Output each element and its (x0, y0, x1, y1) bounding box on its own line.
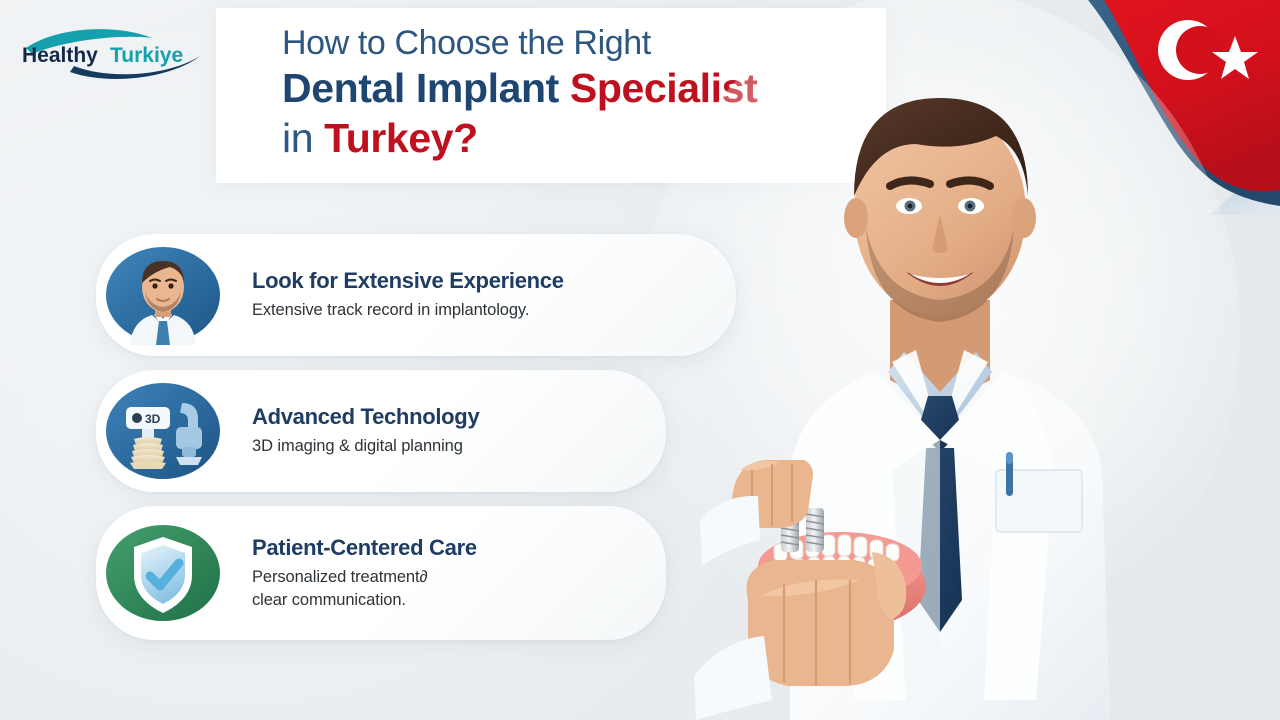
eyebrow-left (890, 180, 930, 186)
healthy-turkiye-logo[interactable]: Healthy Turkiye (18, 22, 208, 80)
eyebrow-right (950, 180, 990, 186)
flag-red-field (1104, 0, 1280, 191)
implant-screw-2 (806, 508, 824, 552)
svg-text:3D: 3D (145, 412, 161, 426)
model-teeth-row-upper (774, 535, 899, 561)
pupil-right (968, 204, 973, 209)
pen-icon (1006, 452, 1013, 496)
ear-left (844, 198, 868, 238)
headline-turkey: Turkey? (324, 115, 478, 161)
hand-upper (732, 460, 813, 528)
implant-screw (781, 508, 799, 552)
implant-threads-2 (806, 514, 824, 545)
tie-knot (918, 396, 962, 452)
feature-card-patient-care[interactable]: Patient-Centered Care Personalized treat… (96, 506, 666, 640)
pen-clip (1006, 452, 1013, 464)
iris-left (905, 201, 916, 212)
card-text-block: Patient-Centered Care Personalized treat… (252, 535, 666, 611)
pupil-left (908, 204, 913, 209)
lapel-left (836, 372, 940, 700)
headline-specialist: Specialist (570, 65, 757, 111)
tie-blade (918, 448, 962, 632)
coat-shade-left (892, 440, 940, 700)
lab-coat (790, 372, 1110, 720)
dental-implant-icon (771, 462, 824, 552)
dental-jaw-model (754, 532, 926, 630)
card-title: Look for Extensive Experience (252, 268, 736, 294)
card-text-block: Advanced Technology 3D imaging & digital… (252, 404, 666, 457)
coat-pocket (996, 470, 1082, 532)
crescent-icon (1158, 20, 1224, 80)
logo-text-turkiye: Turkiye (110, 44, 183, 67)
flag-navy-underside (1088, 0, 1280, 206)
page-title: How to Choose the Right Dental Implant S… (282, 24, 892, 162)
hand-lower (746, 552, 906, 686)
flag-pale-fold (1210, 160, 1280, 215)
card-subtitle: Extensive track record in implantology. (252, 299, 736, 321)
headline-line-3: in Turkey? (282, 116, 892, 162)
eye-left (896, 198, 922, 214)
3d-scanner-printer-icon: 3D (104, 381, 222, 481)
card-text-block: Look for Extensive Experience Extensive … (252, 268, 736, 321)
implant-crown (771, 462, 808, 502)
card-title: Patient-Centered Care (252, 535, 666, 561)
card-subtitle-line2: clear communication. (252, 589, 666, 611)
collar-left (892, 350, 940, 438)
ear-right (1012, 198, 1036, 238)
feature-card-experience[interactable]: Look for Extensive Experience Extensive … (96, 234, 736, 356)
headline-line-1: How to Choose the Right (282, 24, 892, 62)
neck (890, 300, 990, 395)
headline-line-2: Dental Implant Specialist (282, 66, 892, 112)
logo-text-healthy: Healthy (22, 44, 98, 67)
card-title: Advanced Technology (252, 404, 666, 430)
implant-abutment (782, 500, 798, 508)
model-teeth-row-lower (778, 556, 895, 578)
thumb (872, 552, 906, 620)
sleeve-cuff-upper (700, 496, 760, 566)
dress-shirt (888, 352, 992, 440)
poster-canvas: Healthy Turkiye How to Choose the Right … (0, 0, 1280, 720)
card-subtitle: 3D imaging & digital planning (252, 435, 666, 457)
lapel-right (940, 372, 1054, 700)
teeth (910, 274, 970, 283)
headline-in: in (282, 115, 313, 161)
nose (932, 214, 948, 253)
mouth (906, 272, 974, 286)
shield-check-icon (104, 523, 222, 623)
star-icon (1212, 36, 1258, 79)
doctor-avatar-icon (104, 245, 222, 345)
jaw-gums (754, 542, 926, 630)
sleeve-cuff-lower (694, 636, 772, 720)
iris-right (965, 201, 976, 212)
implant-threads (781, 514, 799, 545)
turkish-flag-ribbon (1060, 0, 1280, 215)
feature-card-technology[interactable]: 3D Advanced Technology 3D imaging & digi… (96, 370, 666, 492)
headline-dental-implant: Dental Implant (282, 65, 559, 111)
eye-right (958, 198, 984, 214)
jaw-gums-upper (758, 532, 922, 600)
collar-right (940, 350, 988, 438)
card-subtitle-line1: Personalized treatment∂ (252, 566, 666, 588)
beard-stubble (866, 228, 1014, 322)
